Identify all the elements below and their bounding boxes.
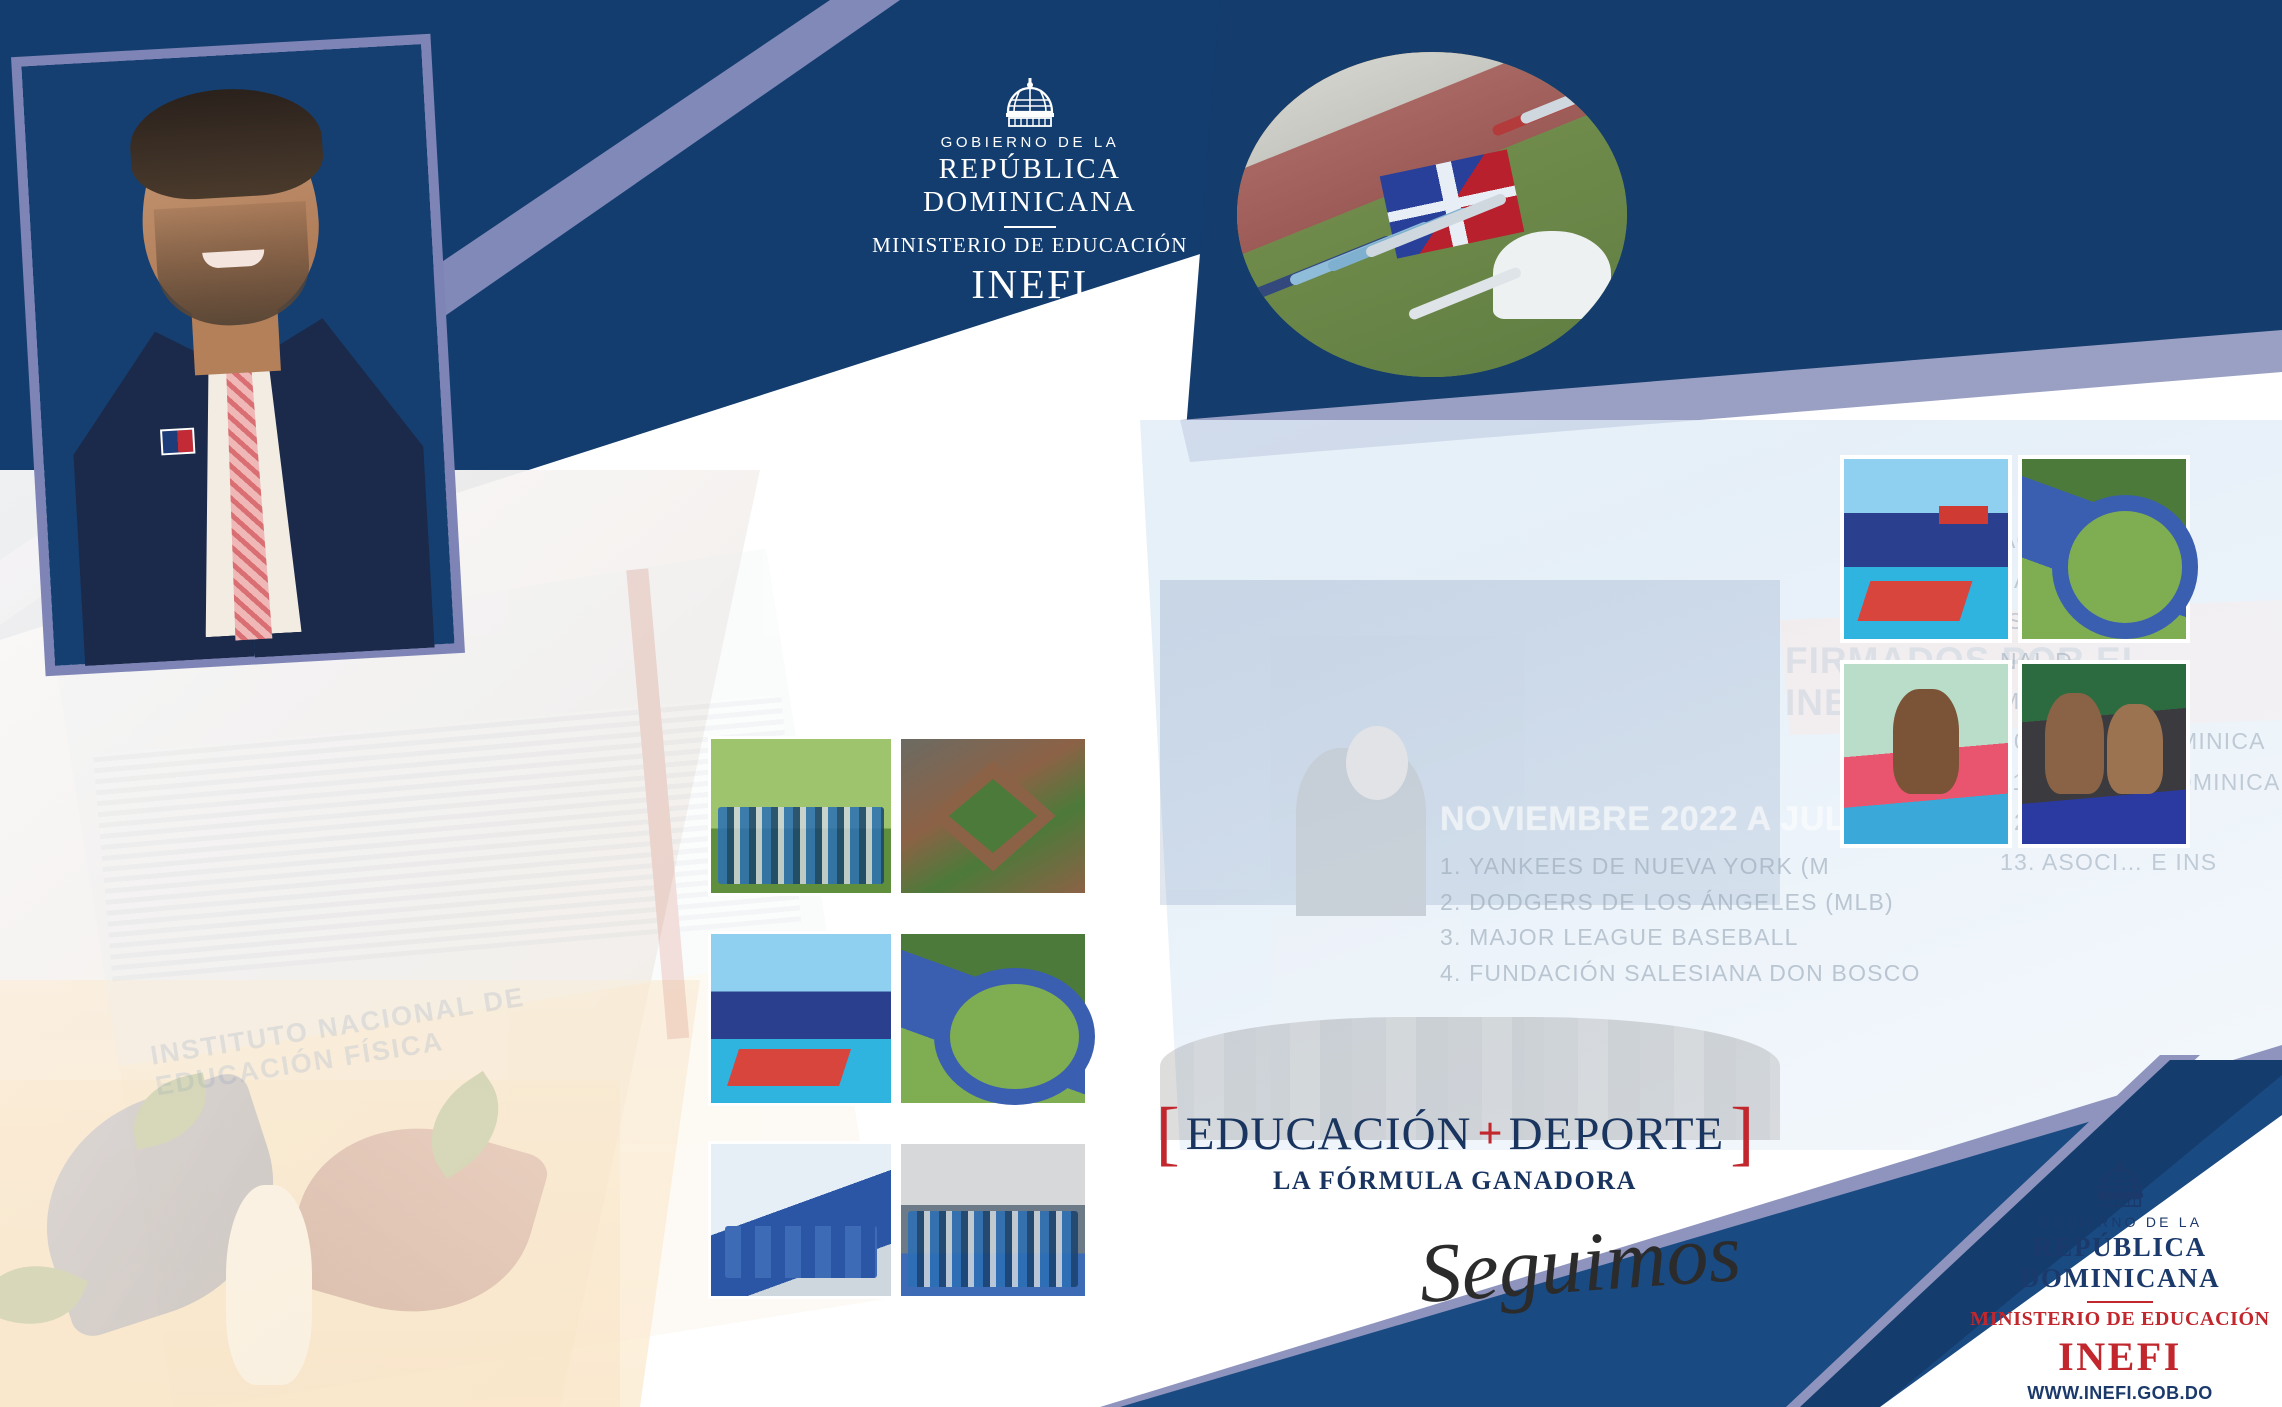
dominican-flag-lapel-pin-icon bbox=[160, 428, 195, 456]
logo-divider-rule bbox=[2087, 1301, 2153, 1303]
headline-block: [ EDUCACIÓN + DEPORTE ] LA FÓRMULA GANAD… bbox=[1185, 1105, 1725, 1196]
classroom-training-photo bbox=[898, 1141, 1088, 1299]
headline-word-deporte: DEPORTE bbox=[1509, 1107, 1725, 1161]
director-portrait-photo bbox=[22, 44, 455, 665]
logo-line-republica: REPÚBLICA DOMINICANA bbox=[860, 153, 1200, 219]
blue-sports-pavilion-photo bbox=[708, 931, 894, 1106]
logo-line-gobierno: GOBIERNO DE LA bbox=[860, 134, 1200, 151]
center-photo-grid bbox=[708, 736, 1088, 1336]
aerial-stadium-formation-photo bbox=[1237, 52, 1627, 377]
logo-line-inefi: INEFI bbox=[860, 260, 1200, 308]
bracket-open: [ bbox=[1156, 1105, 1180, 1163]
aerial-running-track-photo bbox=[898, 931, 1088, 1106]
faded-list-item: 2. DODGERS DE LOS ÁNGELES (MLB) bbox=[1440, 885, 2080, 921]
right-photo-grid bbox=[1840, 455, 2190, 885]
faded-list-item: 4. FUNDACIÓN SALESIANA DON BOSCO bbox=[1440, 956, 2080, 992]
golf-clinic-photo bbox=[708, 736, 894, 896]
logo-line-ministerio: MINISTERIO DE EDUCACIÓN bbox=[860, 233, 1200, 258]
logo-divider-rule bbox=[1004, 226, 1056, 228]
logo-line-gobierno: GOBIERNO DE LA bbox=[1965, 1214, 2275, 1230]
headline-subtitle: LA FÓRMULA GANADORA bbox=[1185, 1166, 1725, 1196]
dominican-republic-dome-icon bbox=[2089, 1160, 2151, 1208]
child-jump-rope-photo bbox=[1840, 660, 2012, 848]
computer-lab-photo bbox=[708, 1141, 894, 1299]
aerial-running-track-photo bbox=[2018, 455, 2190, 643]
logo-line-inefi: INEFI bbox=[1965, 1333, 2275, 1380]
aerial-baseball-field-photo bbox=[898, 736, 1088, 896]
dominican-republic-dome-icon bbox=[998, 78, 1062, 128]
logo-line-republica: REPÚBLICA DOMINICANA bbox=[1965, 1232, 2275, 1294]
website-url[interactable]: WWW.INEFI.GOB.DO bbox=[1965, 1383, 2275, 1404]
header-logo-block: GOBIERNO DE LA REPÚBLICA DOMINICANA MINI… bbox=[860, 78, 1200, 308]
blue-sports-pavilion-photo bbox=[1840, 455, 2012, 643]
bracket-close: ] bbox=[1730, 1105, 1754, 1163]
teacher-and-child-hug-photo bbox=[2018, 660, 2190, 848]
headline-word-educacion: EDUCACIÓN bbox=[1186, 1107, 1472, 1161]
birds-mural-photo bbox=[0, 1080, 620, 1407]
poster-canvas: INSTITUTO NACIONAL DE EDUCACIÓN FÍSICA F… bbox=[0, 0, 2282, 1407]
footer-logo-block: GOBIERNO DE LA REPÚBLICA DOMINICANA MINI… bbox=[1965, 1160, 2275, 1407]
faded-list-item: 3. MAJOR LEAGUE BASEBALL bbox=[1440, 920, 2080, 956]
headline-plus-sign: + bbox=[1478, 1108, 1503, 1159]
logo-line-ministerio: MINISTERIO DE EDUCACIÓN bbox=[1965, 1308, 2275, 1331]
